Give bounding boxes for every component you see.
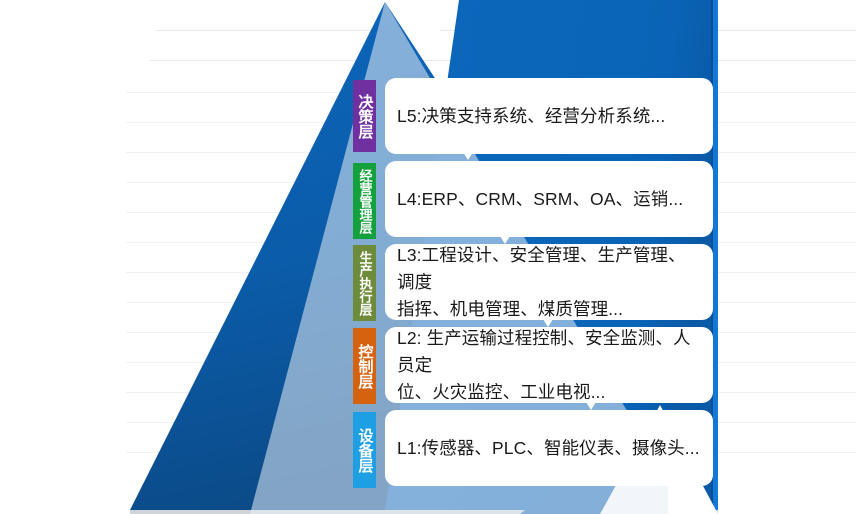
layer-card-L2[interactable]: L2: 生产运输过程控制、安全监测、人员定 位、火灾监控、工业电视... [385, 327, 713, 403]
layer-card-L1[interactable]: L1:传感器、PLC、智能仪表、摄像头... [385, 410, 713, 486]
layer-badge-L5[interactable]: 决策层 [353, 80, 376, 152]
layer-badge-L4[interactable]: 经营管理层 [353, 163, 376, 239]
layer-badge-label: 决策层 [357, 94, 373, 139]
layer-badge-label: 设备层 [357, 428, 373, 473]
layer-badge-label: 控制层 [357, 344, 373, 389]
layer-badge-L2[interactable]: 控制层 [353, 328, 376, 404]
layer-card-line-1: L2: 生产运输过程控制、安全监测、人员定 [397, 328, 691, 375]
layer-card-text: L4:ERP、CRM、SRM、OA、运销... [397, 186, 683, 213]
connector-triangle-down-icon-3 [543, 319, 553, 327]
layer-card-text: L5:决策支持系统、经营分析系统... [397, 103, 665, 130]
layer-badge-label: 经营管理层 [358, 169, 372, 234]
layer-card-text: L1:传感器、PLC、智能仪表、摄像头... [397, 435, 700, 462]
layer-card-L5[interactable]: L5:决策支持系统、经营分析系统... [385, 78, 713, 154]
layer-card-text: L3:工程设计、安全管理、生产管理、调度 指挥、机电管理、煤质管理... [397, 244, 701, 320]
layer-card-line-1: L3:工程设计、安全管理、生产管理、调度 [397, 245, 686, 292]
connector-triangle-down-icon-4 [586, 402, 596, 410]
layer-card-text: L2: 生产运输过程控制、安全监测、人员定 位、火灾监控、工业电视... [397, 327, 701, 403]
layer-card-L3[interactable]: L3:工程设计、安全管理、生产管理、调度 指挥、机电管理、煤质管理... [385, 244, 713, 320]
pyramid-architecture-diagram: 决策层 L5:决策支持系统、经营分析系统... 经营管理层 L4:ERP、CRM… [0, 0, 856, 514]
layer-badge-label: 生产执行层 [358, 251, 372, 316]
connector-triangle-down-icon-1 [463, 152, 473, 160]
panel-right-rim [713, 0, 718, 510]
layer-badge-L1[interactable]: 设备层 [353, 412, 376, 488]
layer-badge-L3[interactable]: 生产执行层 [353, 245, 376, 321]
connector-triangle-down-icon-2 [500, 236, 510, 244]
layer-card-L4[interactable]: L4:ERP、CRM、SRM、OA、运销... [385, 161, 713, 237]
layer-card-line-2: 位、火灾监控、工业电视... [397, 382, 606, 402]
layer-card-line-2: 指挥、机电管理、煤质管理... [397, 299, 623, 319]
